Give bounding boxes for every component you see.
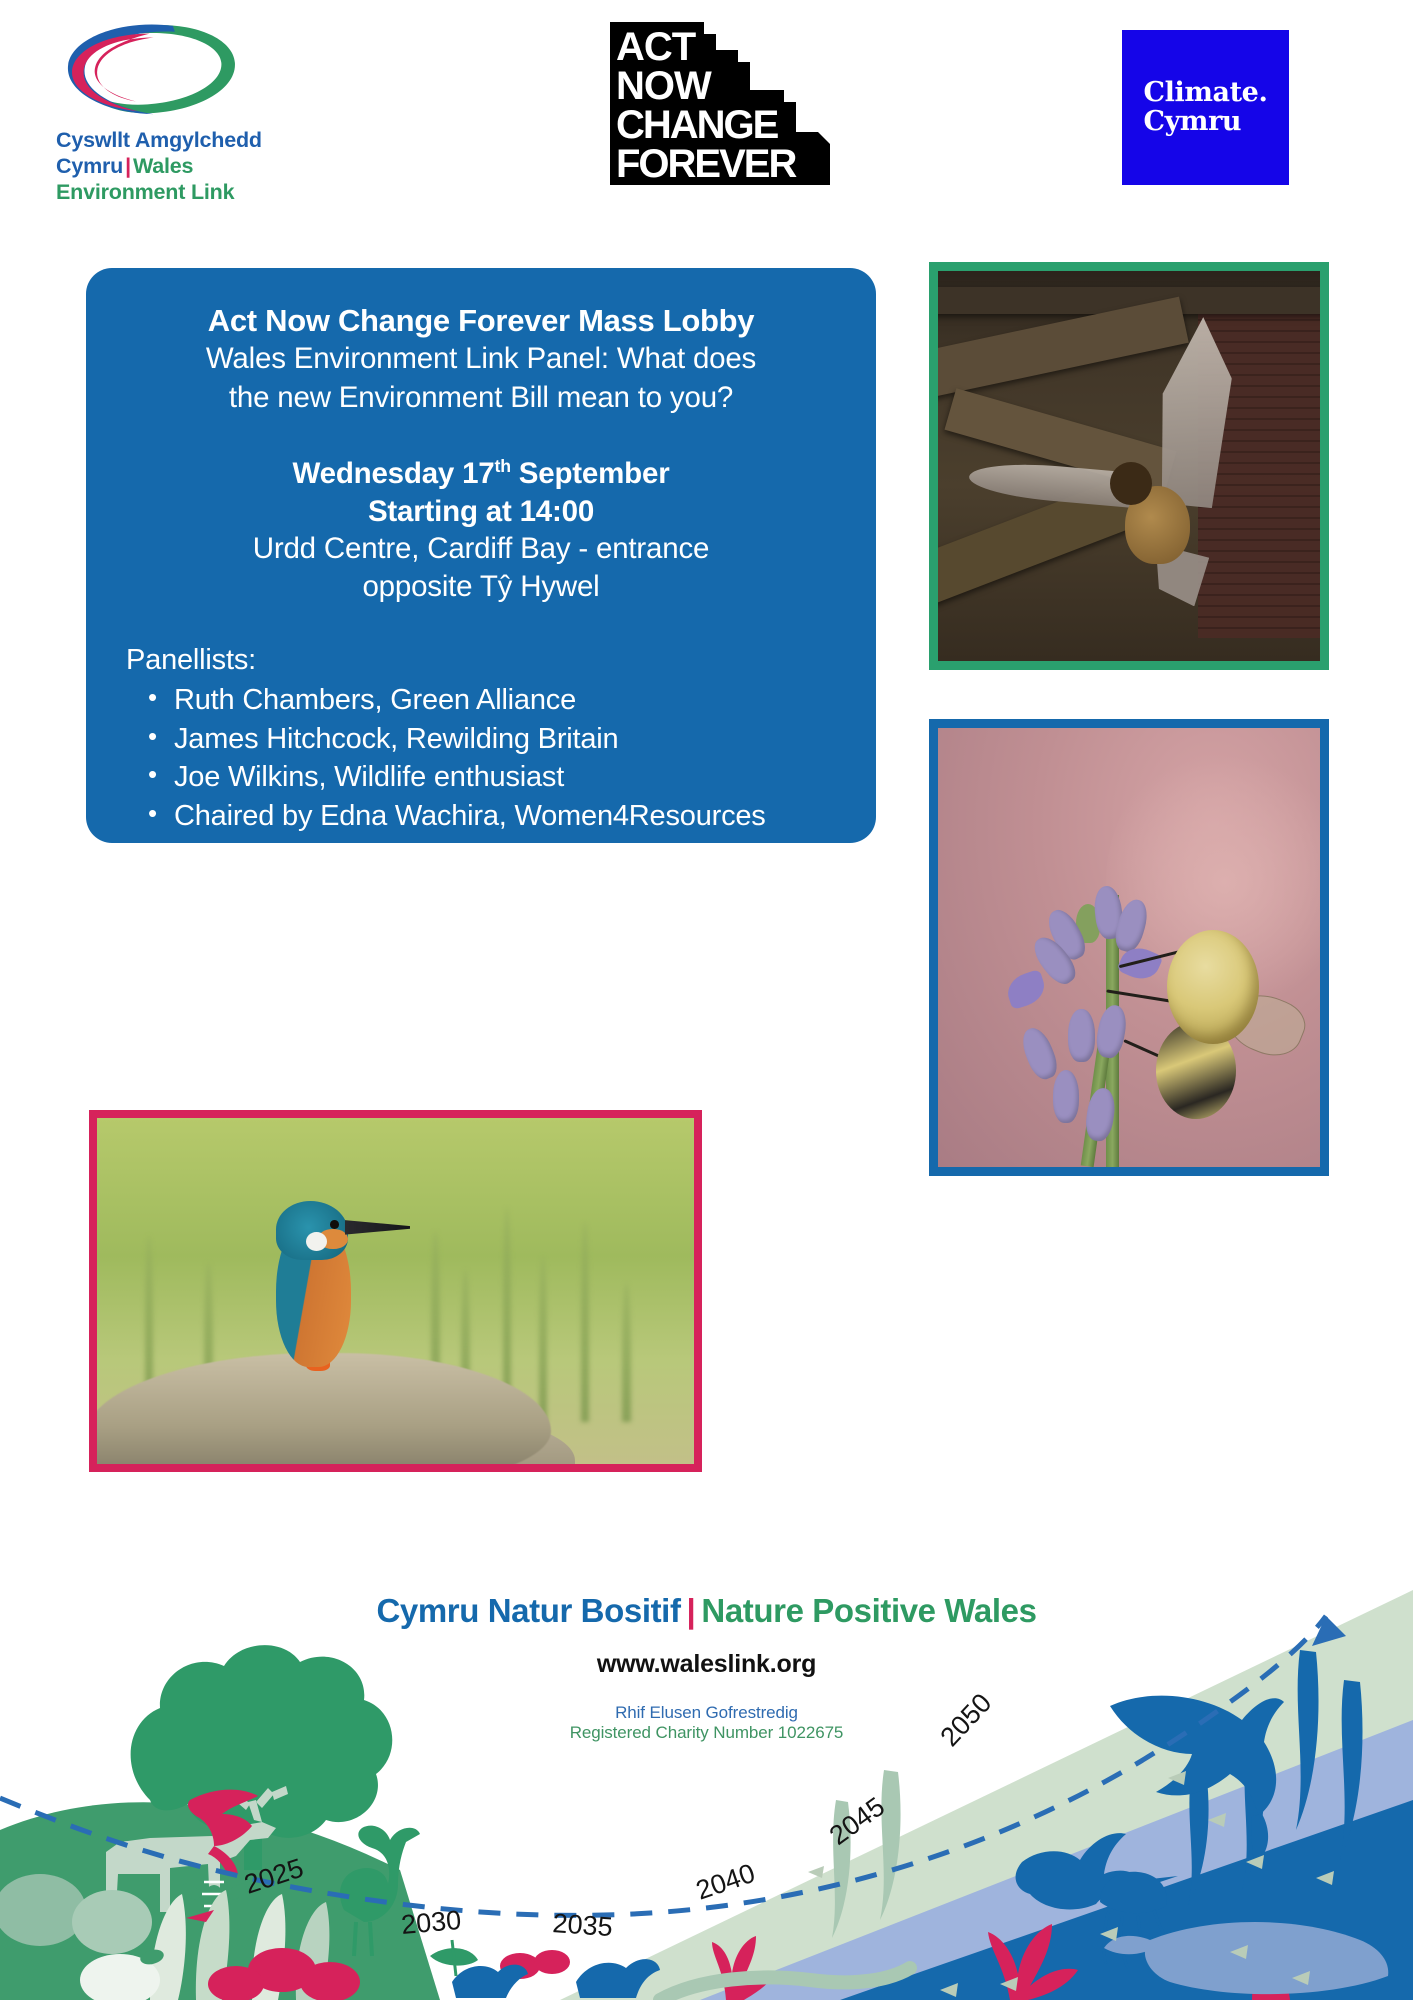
wel-logo-cymru: Cymru [56,154,123,178]
footer-tagline: Cymru Natur Bositif|Nature Positive Wale… [0,1592,1413,1630]
climate-logo-line-1: Climate. [1144,79,1268,108]
wel-logo-wales: Wales [133,154,193,178]
bat-photo [929,262,1329,670]
act-now-logo-shape: ACT NOW CHANGE FOREVER [600,20,860,185]
reed [622,1284,630,1422]
climate-logo-line-2: Cymru [1144,108,1268,137]
kingfisher-photo-image [97,1118,694,1464]
reed [581,1222,589,1423]
event-start-time: Starting at 14:00 [114,493,848,531]
wel-logo-line-3: Environment Link [56,179,356,205]
list-item: James Hitchcock, Rewilding Britain [144,720,848,759]
bee-thorax [1167,930,1259,1044]
lavender-bud [1068,1009,1095,1062]
bee-photo [929,719,1329,1176]
footer: Cymru Natur Bositif|Nature Positive Wale… [0,1592,1413,1743]
timeline-year-label: 2035 [552,1908,614,1942]
svg-text:CHANGE: CHANGE [616,103,779,147]
event-venue-line-1: Urdd Centre, Cardiff Bay - entrance [114,530,848,568]
wel-logo-line-1: Cyswllt Amgylchedd [56,127,356,153]
svg-text:NOW: NOW [616,64,712,108]
event-subtitle-line-2: the new Environment Bill mean to you? [114,380,848,417]
list-item: Joe Wilkins, Wildlife enthusiast [144,758,848,797]
list-item: Chaired by Edna Wachira, Women4Resources [144,797,848,836]
event-title: Act Now Change Forever Mass Lobby [114,302,848,339]
wel-logo-divider: | [123,154,133,178]
timeline-year-label: 2040 [692,1858,759,1906]
timeline-year-label: 2045 [824,1791,890,1851]
wel-logo-line-2: Cymru|Wales [56,153,356,179]
climate-cymru-logo: Climate. Cymru [1122,30,1289,185]
event-date-ordinal: th [495,456,511,476]
lavender-bud [1053,1070,1080,1123]
charity-number-welsh: Rhif Elusen Gofrestredig [0,1703,1413,1723]
event-info-panel: Act Now Change Forever Mass Lobby Wales … [86,268,876,843]
bee-photo-image [938,728,1320,1167]
svg-text:FOREVER: FOREVER [616,142,797,185]
kingfisher-throat [306,1232,327,1251]
event-date-month: September [511,457,670,490]
website-link[interactable]: www.waleslink.org [0,1650,1413,1679]
bat-head [1110,462,1152,505]
act-now-change-forever-logo: ACT NOW CHANGE FOREVER [600,20,860,185]
event-date: Wednesday 17th September [114,455,848,493]
tagline-divider: | [681,1592,702,1629]
event-date-day: Wednesday 17 [293,457,495,490]
wel-swoosh-icon [60,22,245,117]
event-subtitle-line-1: Wales Environment Link Panel: What does [114,341,848,378]
timeline-year-label: 2030 [400,1905,462,1940]
tagline-english: Nature Positive Wales [701,1592,1036,1629]
charity-number-english: Registered Charity Number 1022675 [0,1723,1413,1743]
panellists-list: Ruth Chambers, Green Alliance James Hitc… [114,681,848,835]
wales-environment-link-logo: Cyswllt Amgylchedd Cymru|Wales Environme… [56,22,356,206]
reed [539,1256,547,1422]
poster-root: Cyswllt Amgylchedd Cymru|Wales Environme… [0,0,1413,2000]
panellists-label: Panellists: [114,644,848,677]
tagline-welsh: Cymru Natur Bositif [376,1592,680,1629]
list-item: Ruth Chambers, Green Alliance [144,681,848,720]
event-venue-line-2: opposite Tŷ Hywel [114,568,848,606]
kingfisher-photo [89,1110,702,1472]
bat-photo-image [938,271,1320,661]
svg-text:ACT: ACT [616,25,696,69]
